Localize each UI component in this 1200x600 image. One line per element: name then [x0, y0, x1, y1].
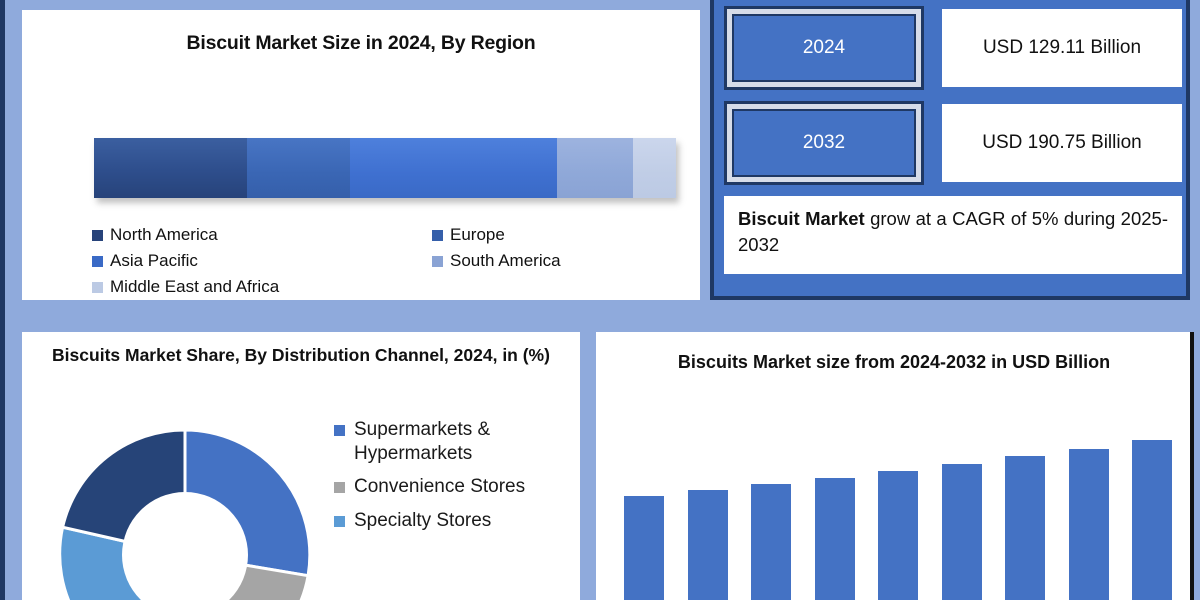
market-value-2032: USD 190.75 Billion — [942, 104, 1182, 182]
year-badge-2032: 2032 — [724, 101, 924, 185]
left-border-accent — [0, 0, 5, 600]
legend-item-north-america: North America — [92, 222, 432, 248]
infographic-root: Biscuit Market Size in 2024, By Region N… — [0, 0, 1200, 600]
figure-row-2032: 2032 USD 190.75 Billion — [724, 101, 1182, 185]
legend-item-supermarkets-hypermarkets: Supermarkets & Hypermarkets — [334, 418, 578, 465]
legend-swatch-icon — [334, 516, 345, 527]
legend-label: Europe — [450, 225, 505, 245]
stacked-segment-north-america — [94, 138, 247, 198]
stacked-chart-legend: North America Europe Asia Pacific South … — [92, 222, 672, 300]
legend-item-asia-pacific: Asia Pacific — [92, 248, 432, 274]
bar-2025 — [688, 490, 728, 600]
legend-label: North America — [110, 225, 218, 245]
panel-market-size-forecast: Biscuits Market size from 2024-2032 in U… — [596, 332, 1194, 600]
market-value-2024: USD 129.11 Billion — [942, 9, 1182, 87]
bar-2024 — [624, 496, 664, 600]
donut-chart — [50, 420, 320, 600]
legend-swatch-icon — [92, 256, 103, 267]
legend-item-south-america: South America — [432, 248, 662, 274]
panel-distribution-channel: Biscuits Market Share, By Distribution C… — [22, 332, 580, 600]
stacked-segment-asia-pacific — [350, 138, 557, 198]
donut-chart-title: Biscuits Market Share, By Distribution C… — [34, 344, 568, 367]
legend-item-europe: Europe — [432, 222, 662, 248]
stacked-bar-chart — [94, 138, 676, 198]
legend-label: South America — [450, 251, 561, 271]
bar-2032 — [1132, 440, 1172, 600]
legend-label: Specialty Stores — [354, 509, 491, 533]
panel-regional-market-size: Biscuit Market Size in 2024, By Region N… — [22, 10, 700, 300]
year-badge-label: 2024 — [732, 14, 916, 82]
legend-label: Asia Pacific — [110, 251, 198, 271]
figure-row-2024: 2024 USD 129.11 Billion — [724, 6, 1182, 90]
year-badge-2024: 2024 — [724, 6, 924, 90]
legend-label: Supermarkets & Hypermarkets — [354, 418, 578, 465]
stacked-segment-south-america — [557, 138, 633, 198]
bar-2028 — [878, 471, 918, 600]
bar-2031 — [1069, 449, 1109, 600]
stacked-segment-europe — [247, 138, 350, 198]
legend-item-convenience-stores: Convenience Stores — [334, 475, 578, 499]
year-badge-label: 2032 — [732, 109, 916, 177]
legend-label: Convenience Stores — [354, 475, 525, 499]
legend-swatch-icon — [432, 256, 443, 267]
legend-item-specialty-stores: Specialty Stores — [334, 509, 578, 533]
legend-item-middle-east-africa: Middle East and Africa — [92, 274, 672, 300]
panel-key-figures: 2024 USD 129.11 Billion 2032 USD 190.75 … — [710, 0, 1190, 300]
legend-swatch-icon — [334, 482, 345, 493]
bar-2029 — [942, 464, 982, 600]
bar-2026 — [751, 484, 791, 600]
stacked-segment-middle-east-africa — [633, 138, 675, 198]
cagr-statement: Biscuit Market grow at a CAGR of 5% duri… — [724, 196, 1182, 274]
bar-2030 — [1005, 456, 1045, 600]
legend-swatch-icon — [334, 425, 345, 436]
cagr-statement-bold: Biscuit Market — [738, 208, 865, 229]
legend-swatch-icon — [92, 230, 103, 241]
legend-label: Middle East and Africa — [110, 277, 279, 297]
donut-chart-legend: Supermarkets & Hypermarkets Convenience … — [334, 418, 578, 532]
bar-2027 — [815, 478, 855, 600]
legend-swatch-icon — [432, 230, 443, 241]
stacked-chart-title: Biscuit Market Size in 2024, By Region — [22, 32, 700, 55]
bars-chart-title: Biscuits Market size from 2024-2032 in U… — [616, 350, 1172, 375]
legend-swatch-icon — [92, 282, 103, 293]
bar-chart — [624, 432, 1172, 600]
